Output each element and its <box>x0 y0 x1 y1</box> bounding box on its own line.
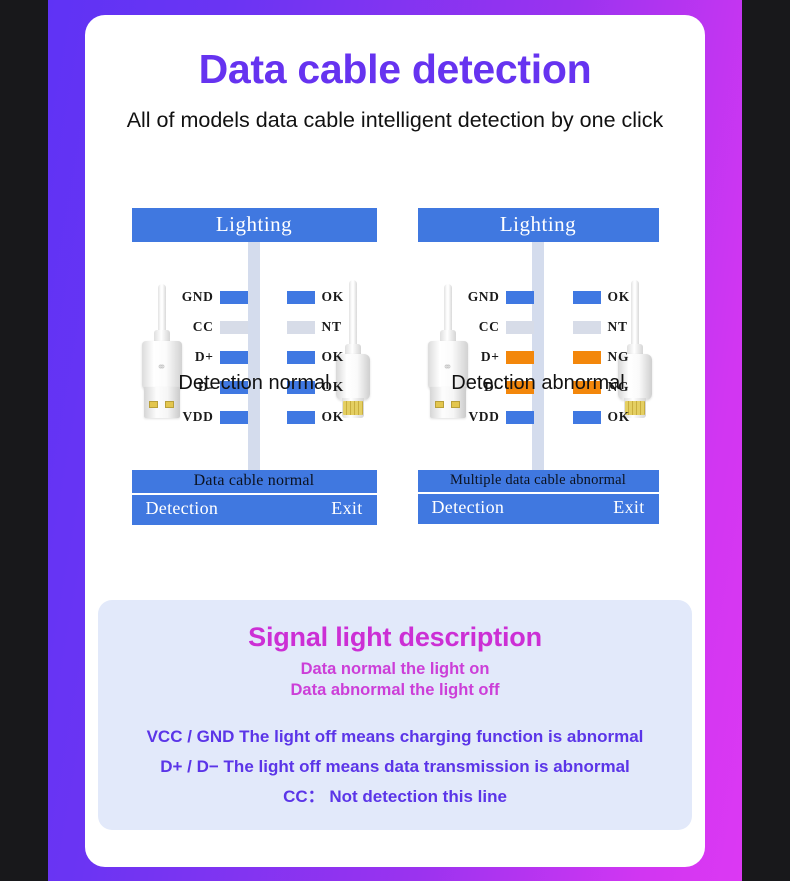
detection-button[interactable]: Detection <box>432 497 505 518</box>
detection-button[interactable]: Detection <box>146 498 219 519</box>
status-label: NT <box>315 319 342 335</box>
exit-button[interactable]: Exit <box>331 498 362 519</box>
led-indicator-left <box>220 411 248 424</box>
description-lines: VCC / GND The light off means charging f… <box>98 722 692 811</box>
description-title: Signal light description <box>98 622 692 653</box>
result-status-bar-normal: Data cable normal <box>132 470 377 495</box>
led-indicator-right <box>287 291 315 304</box>
caption-abnormal-wrap: Detection abnormal <box>418 348 659 395</box>
status-label: OK <box>315 409 345 425</box>
status-label: OK <box>601 409 631 425</box>
description-sub-line-1: Data normal the light on <box>98 659 692 680</box>
page-root: Data cable detection All of models data … <box>0 0 790 881</box>
lighting-header-abnormal: Lighting <box>418 208 659 242</box>
caption-abnormal: Detection abnormal <box>418 372 659 395</box>
signal-row: VDD OK <box>132 408 377 426</box>
status-label: OK <box>601 289 631 305</box>
signal-row: CC NT <box>418 318 659 336</box>
status-label: NT <box>601 319 628 335</box>
led-indicator-left <box>506 321 534 334</box>
led-indicator-left <box>220 291 248 304</box>
signal-row: GND OK <box>132 288 377 306</box>
exit-button[interactable]: Exit <box>613 497 644 518</box>
button-bar-abnormal: Detection Exit <box>418 494 659 524</box>
caption-normal-wrap: Detection normal <box>132 348 377 395</box>
signal-row: GND OK <box>418 288 659 306</box>
led-indicator-left <box>506 411 534 424</box>
pin-label: GND <box>418 289 506 305</box>
led-indicator-right <box>573 321 601 334</box>
lighting-header-normal: Lighting <box>132 208 377 242</box>
led-indicator-left <box>220 321 248 334</box>
led-indicator-left <box>506 291 534 304</box>
led-indicator-right <box>287 411 315 424</box>
description-line-vcc-gnd: VCC / GND The light off means charging f… <box>98 722 692 752</box>
description-line-dplus-dminus: D+ / D− The light off means data transmi… <box>98 752 692 782</box>
description-subtitle: Data normal the light on Data abnormal t… <box>98 659 692 700</box>
status-label: OK <box>315 289 345 305</box>
pin-label: GND <box>132 289 220 305</box>
signal-light-description-box: Signal light description Data normal the… <box>98 600 692 830</box>
content-card: Data cable detection All of models data … <box>85 15 705 867</box>
signal-row: VDD OK <box>418 408 659 426</box>
pin-label: CC <box>418 319 506 335</box>
description-line-cc: CC： Not detection this line <box>98 782 692 812</box>
led-indicator-right <box>573 411 601 424</box>
button-bar-normal: Detection Exit <box>132 495 377 525</box>
pin-label: VDD <box>418 409 506 425</box>
page-title: Data cable detection <box>85 48 705 91</box>
page-subtitle: All of models data cable intelligent det… <box>85 107 705 134</box>
pin-label: VDD <box>132 409 220 425</box>
panel-captions: Detection normal Detection abnormal <box>85 348 705 395</box>
pin-label: CC <box>132 319 220 335</box>
signal-row: CC NT <box>132 318 377 336</box>
description-sub-line-2: Data abnormal the light off <box>98 680 692 701</box>
caption-normal: Detection normal <box>132 372 377 395</box>
result-status-bar-abnormal: Multiple data cable abnormal <box>418 470 659 494</box>
led-indicator-right <box>573 291 601 304</box>
led-indicator-right <box>287 321 315 334</box>
